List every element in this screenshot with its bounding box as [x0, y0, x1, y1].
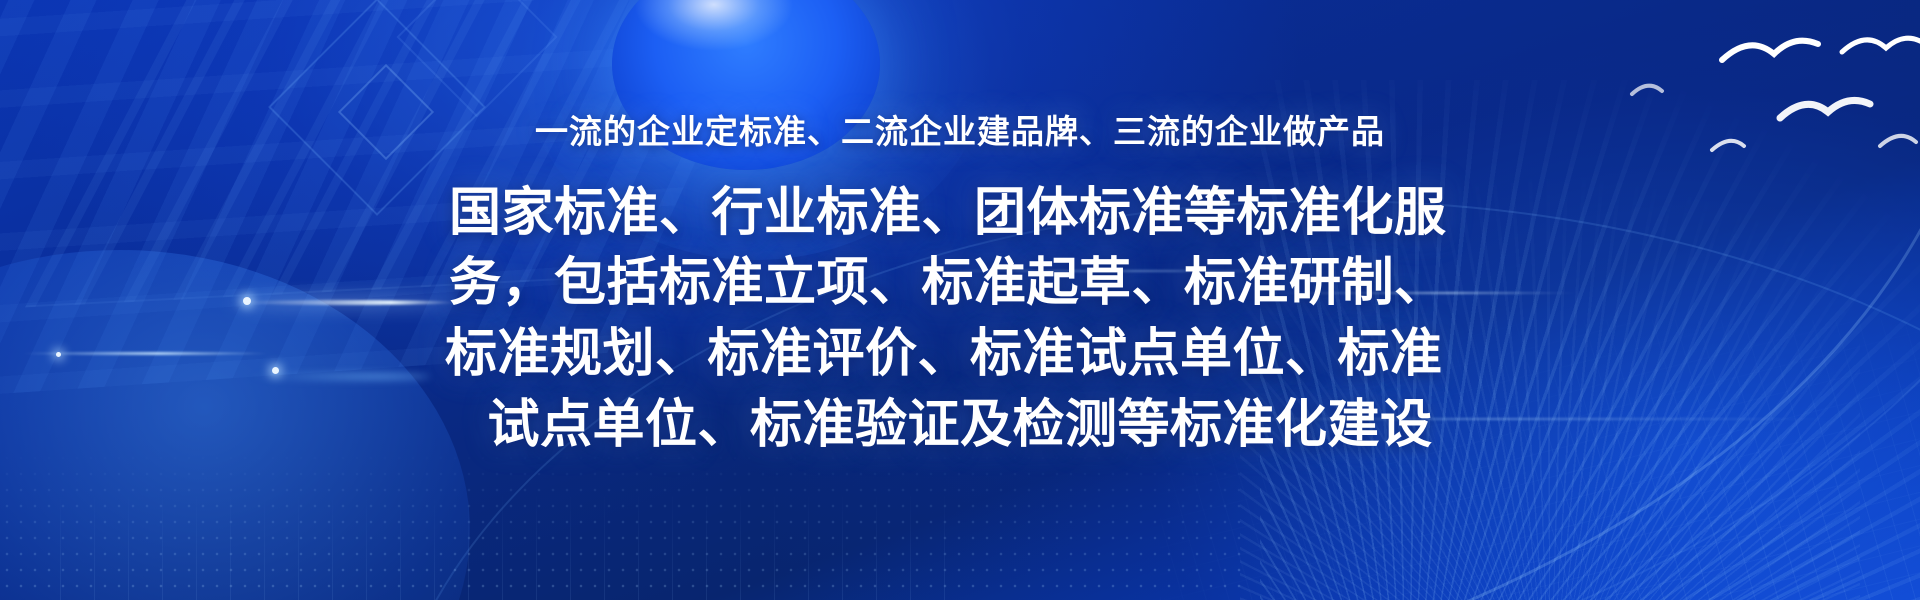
light-streak-right-2-icon	[1260, 292, 1580, 294]
dome-glow-icon	[520, 0, 990, 260]
banner-text-container: 一流的企业定标准、二流企业建品牌、三流的企业做产品 国家标准、行业标准、团体标准…	[0, 0, 1920, 600]
dome-ellipse-icon	[612, 0, 880, 170]
sparkle-icon	[56, 352, 61, 357]
sparkle-icon	[272, 367, 279, 374]
glow-sphere-icon	[0, 250, 470, 600]
banner-subtitle: 一流的企业定标准、二流企业建品牌、三流的企业做产品	[535, 112, 1385, 152]
radial-fan-lines-secondary-icon	[1240, 100, 1860, 600]
diamond-outline-small-icon	[338, 64, 434, 160]
diamond-outline-icon	[268, 0, 486, 216]
dot-grid-icon	[0, 450, 1250, 600]
curve-band-lower-icon	[380, 200, 1920, 600]
sparkle-icon	[243, 297, 251, 305]
light-glow-blob-icon	[250, 372, 430, 381]
seagull-birds-icon	[1280, 0, 1920, 260]
light-streak-bottom-icon	[1150, 418, 1850, 420]
banner-headline: 国家标准、行业标准、团体标准等标准化服 务，包括标准立项、标准起草、标准研制、 …	[445, 178, 1475, 461]
headline-line-1: 国家标准、行业标准、团体标准等标准化服	[445, 178, 1475, 249]
diamond-outline-faint-icon	[396, 0, 557, 118]
headline-line-2: 务，包括标准立项、标准起草、标准研制、	[445, 248, 1475, 319]
curve-band-secondary-icon	[0, 0, 1920, 600]
light-streak-right-icon	[900, 270, 1320, 272]
vertical-tick-grid-icon	[60, 490, 960, 600]
mesh-grid-icon	[1160, 320, 1920, 600]
headline-line-4: 试点单位、标准验证及检测等标准化建设	[445, 390, 1475, 461]
filmstrip-pattern-icon	[0, 0, 819, 406]
light-streak-icon	[20, 352, 270, 355]
filmstrip-pattern-secondary-icon	[25, 0, 735, 307]
hero-banner: 一流的企业定标准、二流企业建品牌、三流的企业做产品 国家标准、行业标准、团体标准…	[0, 0, 1920, 600]
light-streak-bright-icon	[230, 300, 460, 305]
radial-fan-lines-icon	[1260, 80, 1920, 600]
background-decoration-layer	[0, 0, 1920, 600]
headline-line-3: 标准规划、标准评价、标准试点单位、标准	[445, 319, 1475, 390]
curve-band-icon	[0, 0, 1920, 600]
